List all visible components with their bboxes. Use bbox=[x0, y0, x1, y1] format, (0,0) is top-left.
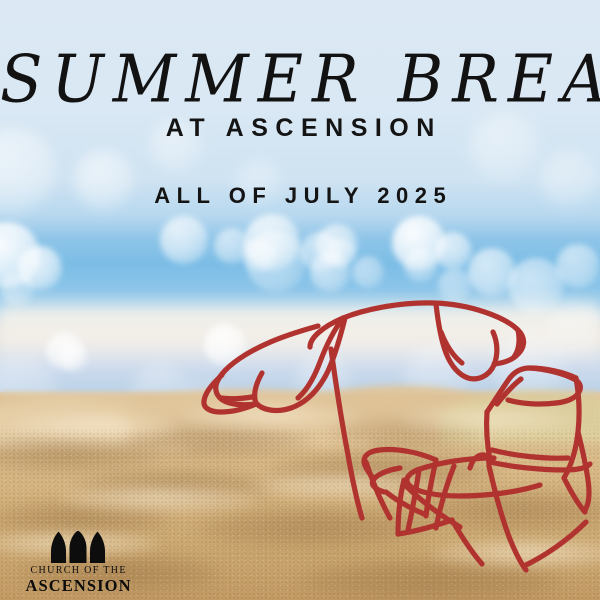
subtitle: AT ASCENSION bbox=[0, 114, 600, 143]
page-title: SUMMERBREAK bbox=[0, 46, 600, 112]
title-word-summer: SUMMER bbox=[0, 46, 368, 112]
date-line: ALL OF JULY 2025 bbox=[0, 183, 600, 209]
summer-break-flyer: SUMMERBREAK AT ASCENSION ALL OF JULY 202… bbox=[0, 0, 600, 600]
logo-line-2: ASCENSION bbox=[24, 577, 132, 595]
title-word-break: BREAK bbox=[398, 46, 600, 112]
church-logo: CHURCH OF THE ASCENSION bbox=[24, 531, 132, 595]
crown-icon bbox=[47, 531, 109, 563]
